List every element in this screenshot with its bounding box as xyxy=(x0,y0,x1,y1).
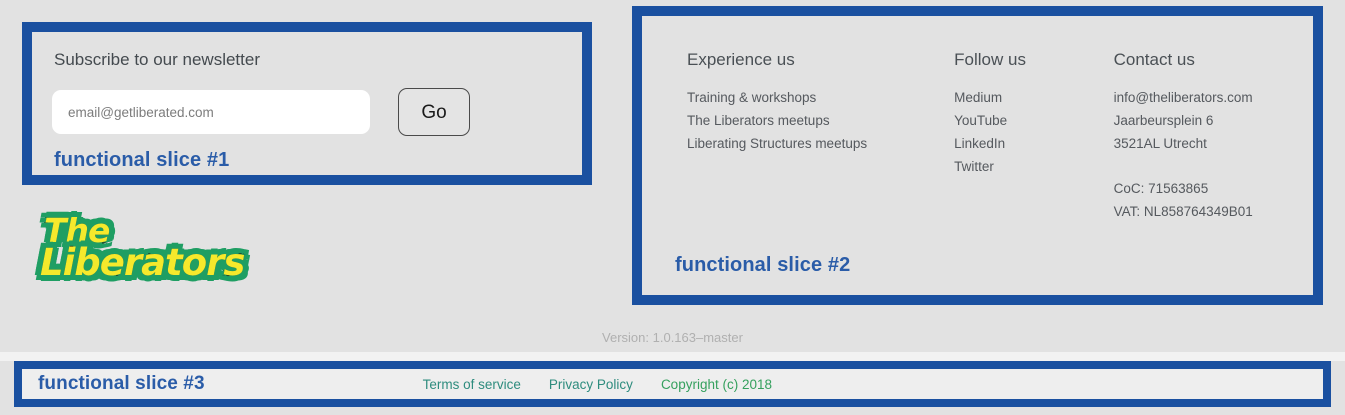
functional-slice-3-panel: functional slice #3 Terms of service Pri… xyxy=(14,361,1331,407)
functional-slice-1-panel: Subscribe to our newsletter Go functiona… xyxy=(22,22,592,185)
address-line-2: 3521AL Utrecht xyxy=(1114,132,1313,155)
column-follow-us: Follow us Medium YouTube LinkedIn Twitte… xyxy=(954,50,1113,223)
footer-columns-content: Experience us Training & workshops The L… xyxy=(642,16,1313,295)
version-strip-background xyxy=(0,352,1345,361)
footer-columns: Experience us Training & workshops The L… xyxy=(687,50,1313,223)
go-button[interactable]: Go xyxy=(398,88,470,136)
column-heading-follow-us: Follow us xyxy=(954,50,1113,70)
link-twitter[interactable]: Twitter xyxy=(954,155,1113,178)
functional-slice-1-label: functional slice #1 xyxy=(54,149,562,172)
column-heading-contact-us: Contact us xyxy=(1114,50,1313,70)
functional-slice-2-panel: Experience us Training & workshops The L… xyxy=(632,6,1323,305)
coc-number: CoC: 71563865 xyxy=(1114,177,1313,200)
the-liberators-logo: The Liberators xyxy=(40,216,262,290)
bottom-strip xyxy=(0,407,1345,415)
newsletter-title: Subscribe to our newsletter xyxy=(54,50,562,70)
link-medium[interactable]: Medium xyxy=(954,86,1113,109)
column-experience-us: Experience us Training & workshops The L… xyxy=(687,50,954,223)
newsletter-content: Subscribe to our newsletter Go functiona… xyxy=(32,32,582,175)
functional-slice-3-label: functional slice #3 xyxy=(38,373,205,395)
logo-line-2: Liberators xyxy=(40,246,262,280)
link-liberators-meetups[interactable]: The Liberators meetups xyxy=(687,109,954,132)
email-input[interactable] xyxy=(52,90,370,134)
legal-links: Terms of service Privacy Policy Copyrigh… xyxy=(423,377,772,392)
contact-spacer xyxy=(1114,155,1313,177)
legal-bar-content: functional slice #3 Terms of service Pri… xyxy=(22,369,1323,399)
link-terms-of-service[interactable]: Terms of service xyxy=(423,377,521,392)
newsletter-form-row: Go xyxy=(52,88,562,136)
vat-number: VAT: NL858764349B01 xyxy=(1114,200,1313,223)
link-contact-email[interactable]: info@theliberators.com xyxy=(1114,86,1313,109)
column-contact-us: Contact us info@theliberators.com Jaarbe… xyxy=(1114,50,1313,223)
version-text: Version: 1.0.163–master xyxy=(0,330,1345,345)
column-heading-experience-us: Experience us xyxy=(687,50,954,70)
link-copyright[interactable]: Copyright (c) 2018 xyxy=(661,377,772,392)
link-training-workshops[interactable]: Training & workshops xyxy=(687,86,954,109)
link-linkedin[interactable]: LinkedIn xyxy=(954,132,1113,155)
functional-slice-2-label: functional slice #2 xyxy=(675,254,850,277)
address-line-1: Jaarbeursplein 6 xyxy=(1114,109,1313,132)
link-liberating-structures-meetups[interactable]: Liberating Structures meetups xyxy=(687,132,954,155)
link-privacy-policy[interactable]: Privacy Policy xyxy=(549,377,633,392)
link-youtube[interactable]: YouTube xyxy=(954,109,1113,132)
